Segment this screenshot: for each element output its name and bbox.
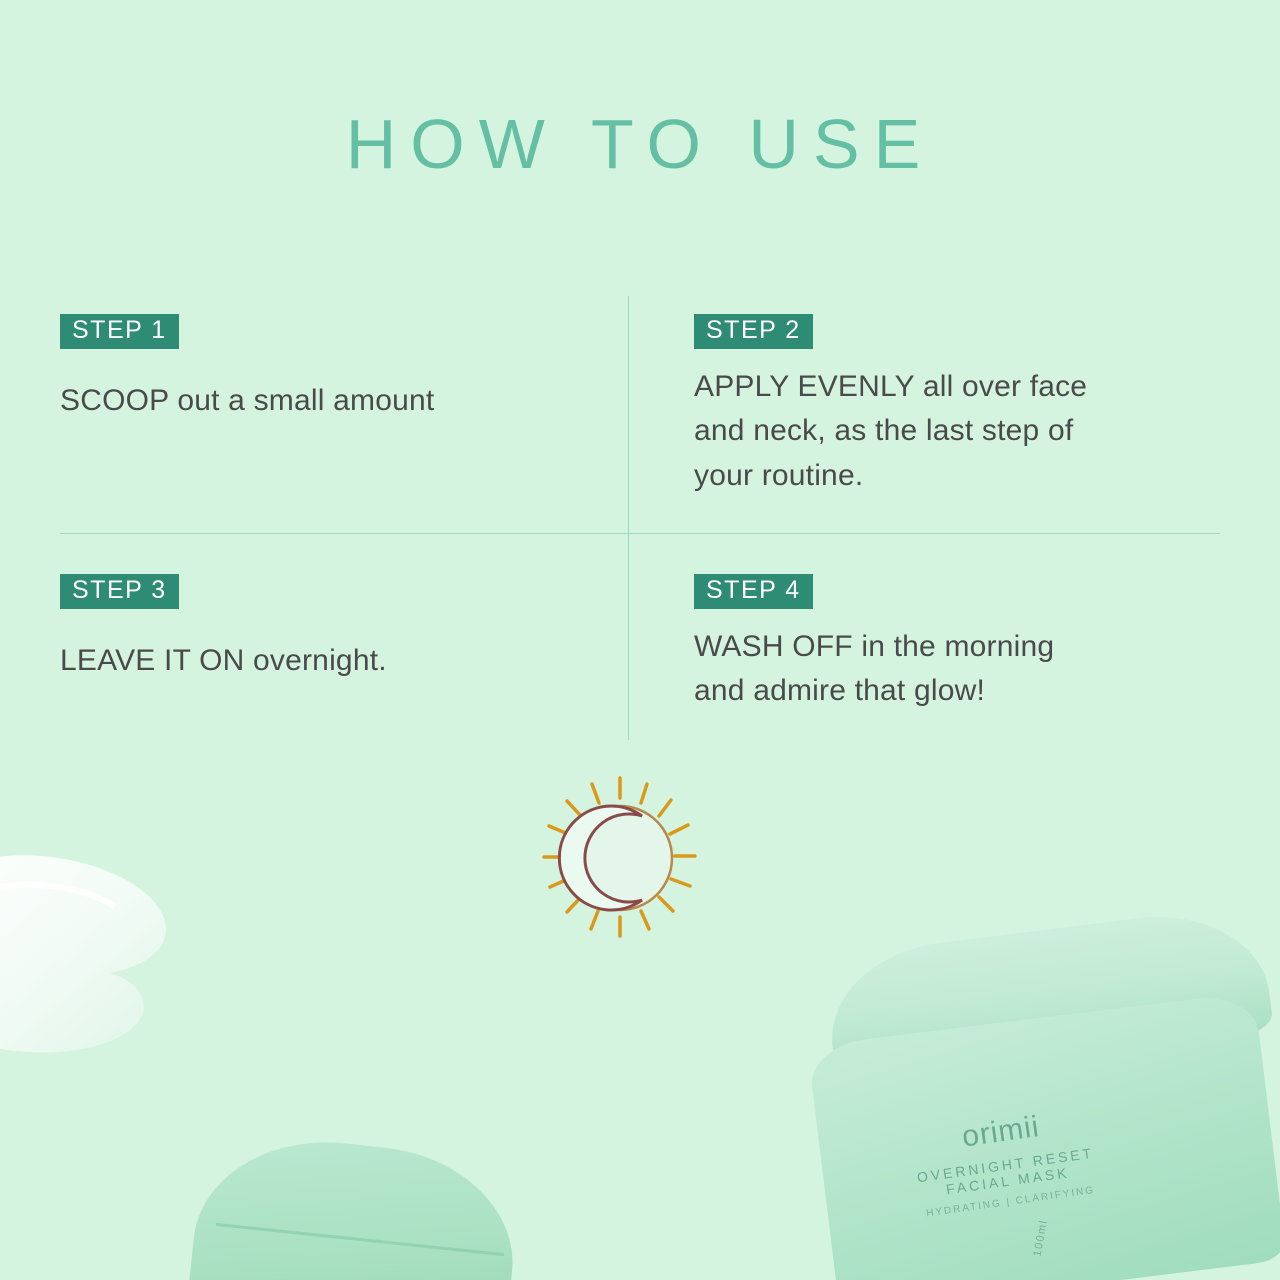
- step-3-line-1: LEAVE IT ON overnight.: [60, 639, 580, 683]
- vertical-divider: [628, 296, 629, 740]
- horizontal-divider: [60, 533, 1220, 534]
- steps-grid: STEP 1 SCOOP out a small amount STEP 2 A…: [60, 296, 1220, 746]
- step-1-line-1: SCOOP out a small amount: [60, 379, 580, 423]
- step-2: STEP 2 APPLY EVENLY all over face and ne…: [694, 314, 1214, 498]
- step-2-line-3: your routine.: [694, 454, 1214, 498]
- step-3: STEP 3 LEAVE IT ON overnight.: [60, 574, 580, 683]
- step-1: STEP 1 SCOOP out a small amount: [60, 314, 580, 423]
- cream-swatch: [0, 845, 230, 1065]
- step-2-line-1: APPLY EVENLY all over face: [694, 365, 1214, 409]
- step-1-text: SCOOP out a small amount: [60, 379, 580, 423]
- step-4: STEP 4 WASH OFF in the morning and admir…: [694, 574, 1214, 714]
- step-1-badge: STEP 1: [60, 314, 179, 349]
- sun-moon-icon: [530, 770, 710, 950]
- step-3-badge: STEP 3: [60, 574, 179, 609]
- step-4-line-2: and admire that glow!: [694, 669, 1214, 713]
- product-jar-primary: [818, 930, 1280, 1280]
- cream-swatch-svg: [0, 845, 240, 1075]
- step-3-text: LEAVE IT ON overnight.: [60, 639, 580, 683]
- product-jar-secondary: [186, 1129, 523, 1280]
- step-4-line-1: WASH OFF in the morning: [694, 625, 1214, 669]
- sun-moon-icon-svg: [530, 770, 710, 950]
- page-title: HOW TO USE: [0, 104, 1280, 184]
- step-2-badge: STEP 2: [694, 314, 813, 349]
- step-4-badge: STEP 4: [694, 574, 813, 609]
- how-to-use-infographic: HOW TO USE STEP 1 SCOOP out a small amou…: [0, 0, 1280, 1280]
- step-2-text: APPLY EVENLY all over face and neck, as …: [694, 365, 1214, 498]
- step-4-text: WASH OFF in the morning and admire that …: [694, 625, 1214, 714]
- step-2-line-2: and neck, as the last step of: [694, 409, 1214, 453]
